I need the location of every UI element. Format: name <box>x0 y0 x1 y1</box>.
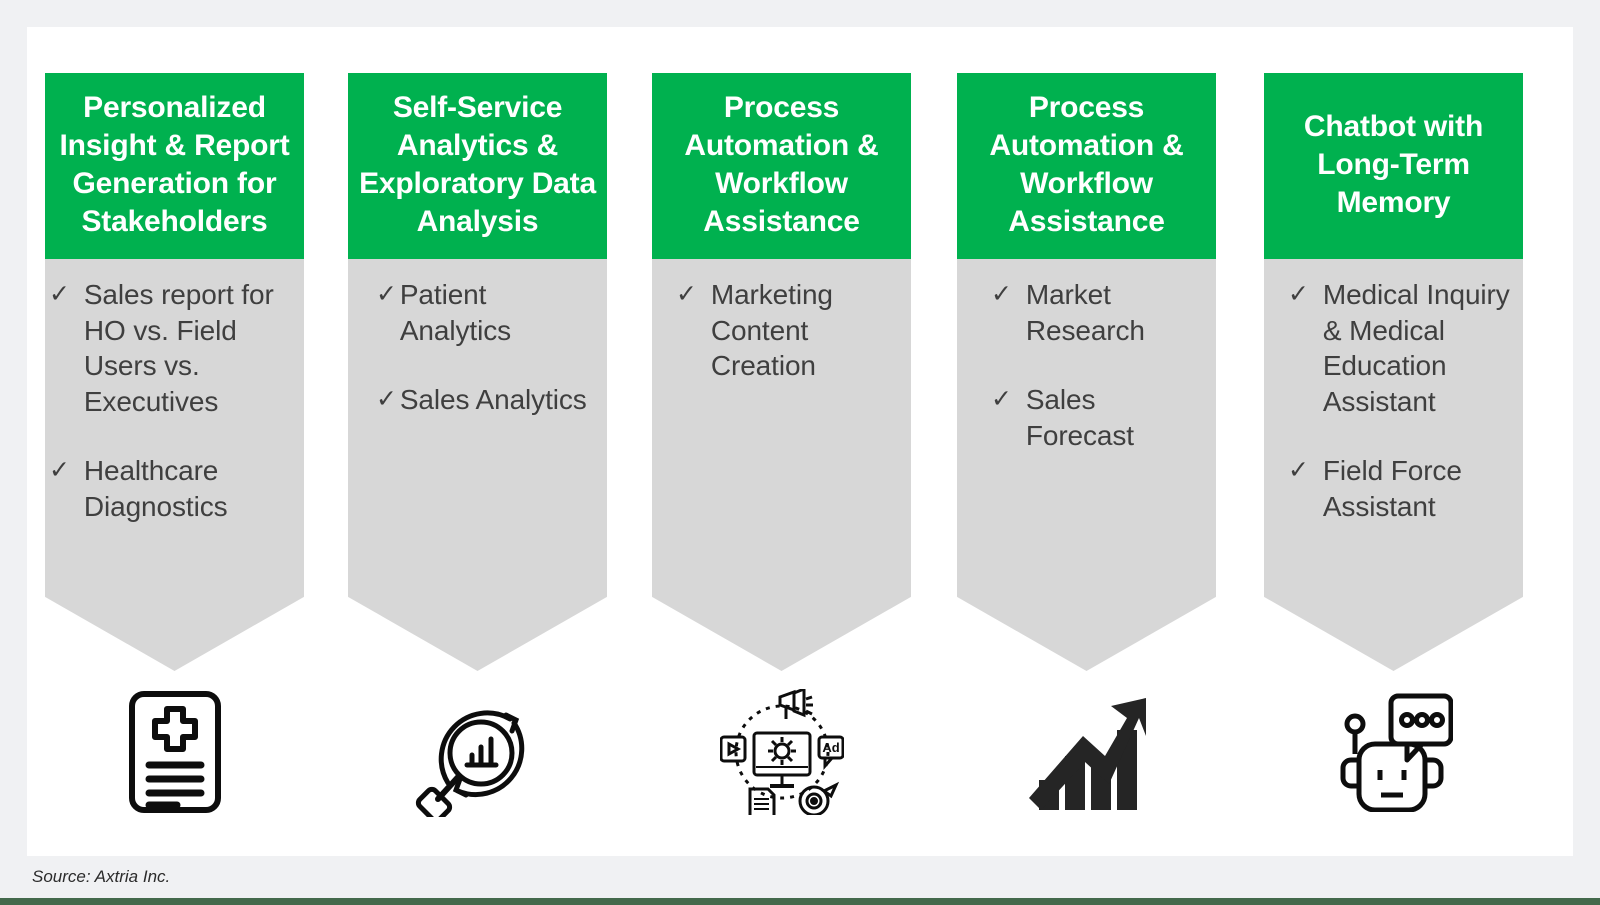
list-item: ✓ Healthcare Diagnostics <box>49 453 294 524</box>
list-item-label: Healthcare Diagnostics <box>84 453 294 524</box>
column-title-4: Process Automation & Workflow Assistance <box>957 73 1216 259</box>
source-bar: Source: Axtria Inc. <box>0 856 1600 898</box>
medical-record-icon <box>127 689 223 815</box>
bottom-accent-rule <box>0 898 1600 905</box>
column-title-5: Chatbot with Long-Term Memory <box>1264 73 1523 259</box>
column-body-4: ✓ Market Research ✓ Sales Forecast <box>957 259 1216 671</box>
list-item-label: Sales Forecast <box>1026 382 1206 453</box>
list-item: ✓ Field Force Assistant <box>1288 453 1513 524</box>
magnifier-bar-chart-refresh-icon <box>414 687 542 817</box>
icon-slot-2 <box>348 677 607 827</box>
use-case-columns: Personalized Insight & Report Generation… <box>27 27 1573 856</box>
column-title-1: Personalized Insight & Report Generation… <box>45 73 304 259</box>
list-item-label: Sales report for HO vs. Field Users vs. … <box>84 277 294 419</box>
source-label: Source: Axtria Inc. <box>0 867 170 887</box>
check-icon: ✓ <box>676 277 697 311</box>
list-item: ✓ Medical Inquiry & Medical Education As… <box>1288 277 1513 419</box>
marketing-automation-monitor-gear-icon: Ad <box>720 689 844 815</box>
icon-slot-1 <box>45 677 304 827</box>
slide-canvas: Personalized Insight & Report Generation… <box>27 27 1573 856</box>
list-item-label: Field Force Assistant <box>1323 453 1513 524</box>
check-icon: ✓ <box>1288 453 1309 487</box>
list-item: ✓ Sales report for HO vs. Field Users vs… <box>49 277 294 419</box>
check-icon: ✓ <box>376 382 397 416</box>
chatbot-robot-icon <box>1335 692 1453 812</box>
use-case-column-5[interactable]: Chatbot with Long-Term Memory ✓ Medical … <box>1264 73 1523 671</box>
icon-slot-5 <box>1264 677 1523 827</box>
column-title-2: Self-Service Analytics & Exploratory Dat… <box>348 73 607 259</box>
icon-slot-4 <box>957 677 1216 827</box>
column-body-2: ✓ Patient Analytics ✓ Sales Analytics <box>348 259 607 671</box>
use-case-column-2[interactable]: Self-Service Analytics & Exploratory Dat… <box>348 73 607 671</box>
check-icon: ✓ <box>991 277 1012 311</box>
list-item-label: Medical Inquiry & Medical Education Assi… <box>1323 277 1513 419</box>
list-item: ✓ Patient Analytics <box>376 277 597 348</box>
check-icon: ✓ <box>376 277 397 311</box>
svg-text:Ad: Ad <box>822 740 839 755</box>
column-body-1: ✓ Sales report for HO vs. Field Users vs… <box>45 259 304 671</box>
list-item-label: Patient Analytics <box>400 277 597 348</box>
list-item: ✓ Marketing Content Creation <box>676 277 901 384</box>
list-item: ✓ Sales Forecast <box>991 382 1206 453</box>
list-item-label: Sales Analytics <box>400 382 597 418</box>
column-title-3: Process Automation & Workflow Assistance <box>652 73 911 259</box>
column-body-5: ✓ Medical Inquiry & Medical Education As… <box>1264 259 1523 671</box>
growth-arrow-bar-chart-icon <box>1027 694 1147 810</box>
use-case-column-3[interactable]: Process Automation & Workflow Assistance… <box>652 73 911 671</box>
check-icon: ✓ <box>991 382 1012 416</box>
check-icon: ✓ <box>49 453 70 487</box>
column-body-3: ✓ Marketing Content Creation <box>652 259 911 671</box>
list-item: ✓ Market Research <box>991 277 1206 348</box>
use-case-column-1[interactable]: Personalized Insight & Report Generation… <box>45 73 304 671</box>
list-item-label: Market Research <box>1026 277 1206 348</box>
use-case-column-4[interactable]: Process Automation & Workflow Assistance… <box>957 73 1216 671</box>
list-item: ✓ Sales Analytics <box>376 382 597 418</box>
icon-slot-3: Ad <box>652 677 911 827</box>
check-icon: ✓ <box>49 277 70 311</box>
list-item-label: Marketing Content Creation <box>711 277 901 384</box>
check-icon: ✓ <box>1288 277 1309 311</box>
